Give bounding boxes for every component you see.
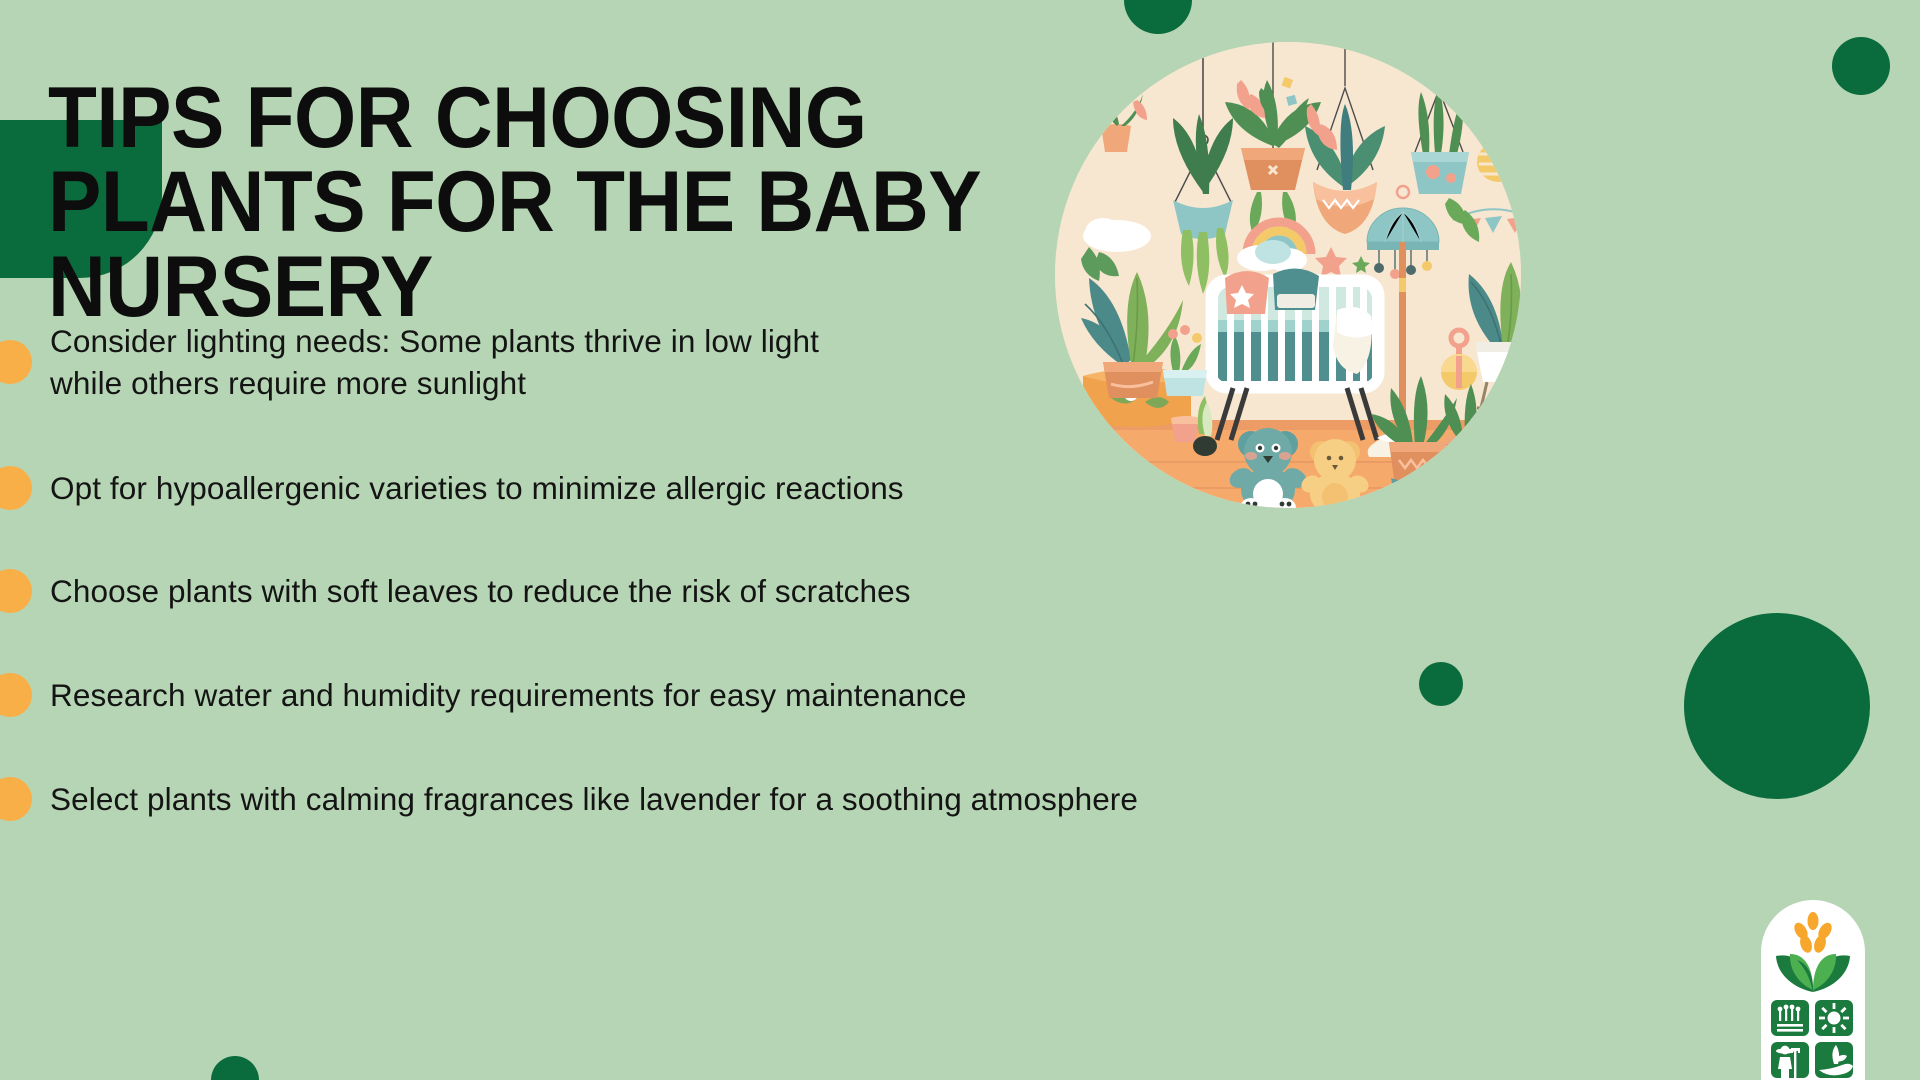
- bullet-dot-icon: [0, 466, 32, 510]
- bullet-dot-icon: [0, 569, 32, 613]
- slide-canvas: TIPS FOR CHOOSING PLANTS FOR THE BABY NU…: [0, 0, 1920, 1080]
- list-item: Choose plants with soft leaves to reduce…: [0, 569, 1480, 613]
- list-item-label: Select plants with calming fragrances li…: [50, 778, 1138, 820]
- list-item-label: Choose plants with soft leaves to reduce…: [50, 570, 911, 612]
- list-item-label: Opt for hypoallergenic varieties to mini…: [50, 467, 904, 509]
- bullet-dot-icon: [0, 777, 32, 821]
- list-item: Select plants with calming fragrances li…: [0, 777, 1480, 821]
- list-item-label: Consider lighting needs: Some plants thr…: [50, 320, 819, 404]
- circle-top-right-decoration: [1832, 37, 1890, 95]
- list-item: Research water and humidity requirements…: [0, 673, 1480, 717]
- bullet-dot-icon: [0, 673, 32, 717]
- circle-top-center-decoration: [1124, 0, 1192, 34]
- bullet-dot-icon: [0, 340, 32, 384]
- circle-mid-large-decoration: [1684, 613, 1870, 799]
- leaf-pair-icon: [1776, 954, 1850, 992]
- baby-nursery-illustration: [1055, 42, 1521, 508]
- list-item-label: Research water and humidity requirements…: [50, 674, 967, 716]
- seed-cluster-icon: [1792, 912, 1835, 954]
- circle-bottom-left-decoration: [211, 1056, 259, 1080]
- brand-logo[interactable]: [1761, 900, 1865, 1080]
- page-title: TIPS FOR CHOOSING PLANTS FOR THE BABY NU…: [48, 76, 1043, 329]
